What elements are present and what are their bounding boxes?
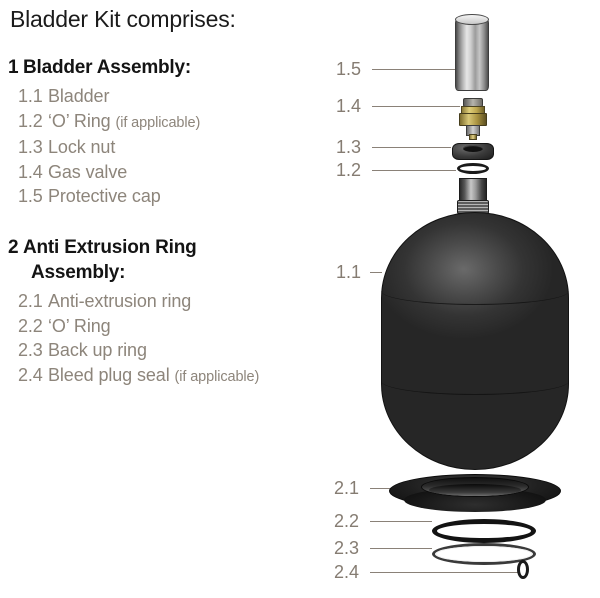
item-index: 1.4: [18, 160, 48, 185]
callout-label-2-1: 2.1: [334, 478, 359, 499]
part-o-ring-upper: [457, 163, 489, 174]
item-index: 1.1: [18, 84, 48, 109]
leader-line-1-4: [372, 106, 460, 107]
item-label: Back up ring: [48, 340, 147, 360]
section-2-heading-text: Anti Extrusion Ring: [23, 237, 197, 258]
part-lock-nut-bore: [463, 145, 483, 152]
part-gas-valve-tip: [469, 134, 477, 140]
section-1-heading: 1Bladder Assembly:: [0, 55, 330, 80]
list-item: 1.5Protective cap: [0, 184, 330, 209]
list-item: 2.2‘O’ Ring: [0, 314, 330, 339]
part-o-ring-lower: [432, 519, 536, 543]
item-label: ‘O’ Ring: [48, 316, 111, 336]
list-item: 1.1Bladder: [0, 84, 330, 109]
item-index: 2.1: [18, 289, 48, 314]
item-label: Bladder: [48, 86, 109, 106]
callout-label-1-3: 1.3: [336, 137, 361, 158]
leader-line-2-3: [370, 548, 432, 549]
item-index: 2.3: [18, 338, 48, 363]
item-note: (if applicable): [115, 115, 200, 131]
callout-label-2-2: 2.2: [334, 511, 359, 532]
leader-line-1-2: [372, 170, 456, 171]
item-note: (if applicable): [175, 369, 260, 385]
part-bladder-body: [381, 212, 569, 470]
section-2-item-list: 2.1Anti-extrusion ring 2.2‘O’ Ring 2.3Ba…: [0, 289, 330, 389]
text-panel: Bladder Kit comprises: 1Bladder Assembly…: [0, 0, 330, 598]
list-item: 2.3Back up ring: [0, 338, 330, 363]
leader-line-2-2: [370, 521, 432, 522]
item-label: Gas valve: [48, 162, 127, 182]
item-label: Bleed plug seal: [48, 365, 170, 385]
section-1-number: 1: [8, 55, 23, 80]
part-protective-cap-top: [455, 14, 489, 25]
callout-label-1-2: 1.2: [336, 160, 361, 181]
callout-label-1-4: 1.4: [336, 96, 361, 117]
item-label: Protective cap: [48, 186, 161, 206]
section-bladder-assembly: 1Bladder Assembly: 1.1Bladder 1.2‘O’ Rin…: [0, 55, 330, 209]
item-index: 2.2: [18, 314, 48, 339]
part-back-up-ring-inner: [436, 546, 532, 562]
list-item: 1.2‘O’ Ring (if applicable): [0, 109, 330, 136]
item-index: 1.5: [18, 184, 48, 209]
list-item: 1.3Lock nut: [0, 135, 330, 160]
list-item: 2.4Bleed plug seal (if applicable): [0, 363, 330, 390]
leader-line-2-4: [370, 572, 518, 573]
section-2-heading-continued: Assembly:: [0, 260, 330, 285]
callout-label-1-5: 1.5: [336, 59, 361, 80]
section-2-heading: 2Anti Extrusion Ring: [0, 235, 330, 260]
item-index: 2.4: [18, 363, 48, 388]
list-item: 2.1Anti-extrusion ring: [0, 289, 330, 314]
callout-label-1-1: 1.1: [336, 262, 361, 283]
section-1-item-list: 1.1Bladder 1.2‘O’ Ring (if applicable) 1…: [0, 84, 330, 209]
section-2-number: 2: [8, 235, 23, 260]
leader-line-1-1: [370, 272, 382, 273]
list-item: 1.4Gas valve: [0, 160, 330, 185]
leader-line-1-3: [372, 147, 451, 148]
item-index: 1.3: [18, 135, 48, 160]
part-bleed-plug-seal: [517, 560, 529, 579]
page-title: Bladder Kit comprises:: [10, 6, 236, 33]
section-1-heading-text: Bladder Assembly:: [23, 57, 191, 78]
item-index: 1.2: [18, 109, 48, 134]
part-anti-extrusion-ring-bore-inner: [429, 484, 521, 496]
item-label: Anti-extrusion ring: [48, 291, 191, 311]
section-anti-extrusion-ring-assembly: 2Anti Extrusion Ring Assembly: 2.1Anti-e…: [0, 235, 330, 389]
item-label: ‘O’ Ring: [48, 111, 111, 131]
part-protective-cap: [455, 18, 489, 91]
item-label: Lock nut: [48, 137, 115, 157]
leader-line-1-5: [372, 69, 456, 70]
callout-label-2-4: 2.4: [334, 562, 359, 583]
callout-label-2-3: 2.3: [334, 538, 359, 559]
